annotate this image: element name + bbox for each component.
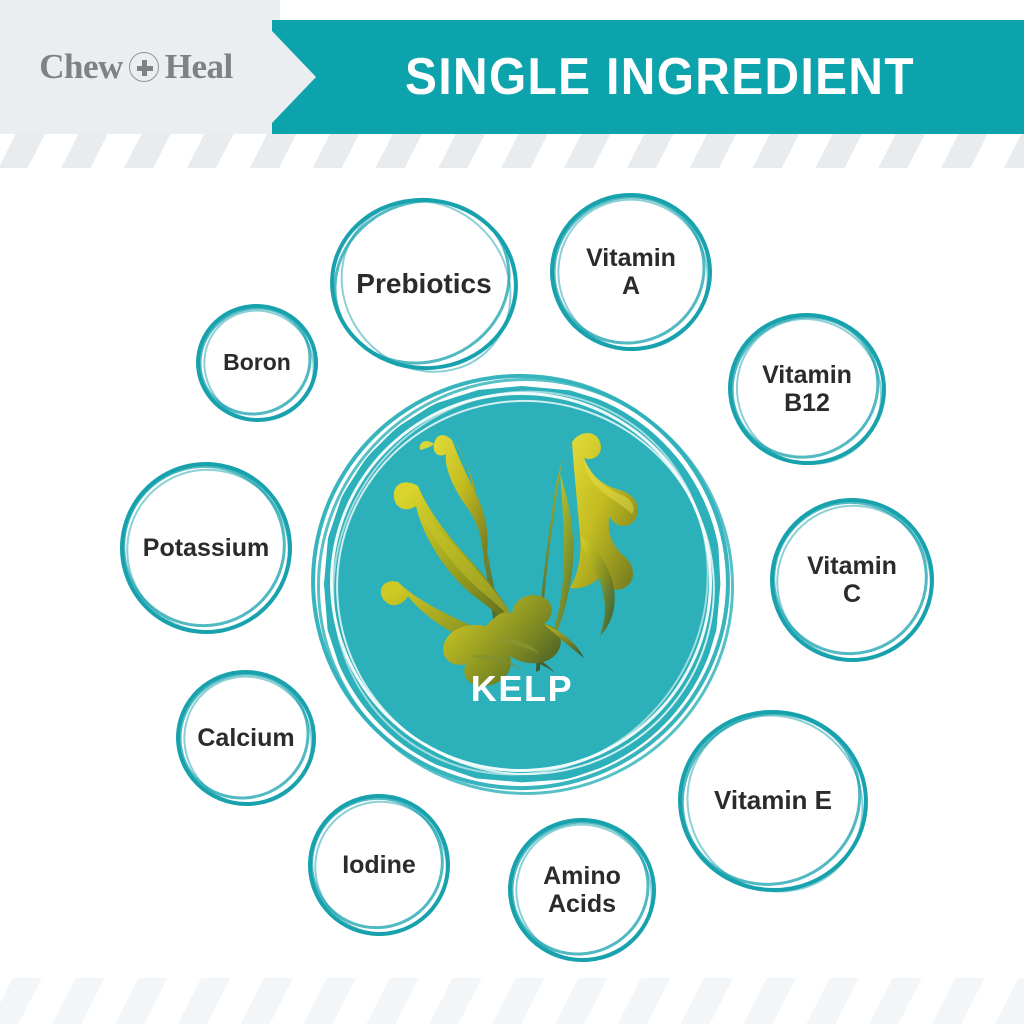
node-label-calcium: Calcium [189,724,302,752]
node-label-line1: Vitamin [586,244,676,272]
kelp-seaweed-illustration [374,414,674,704]
page-title: SINGLE INGREDIENT [356,20,963,134]
header-bar: Chew Heal SINGLE INGREDIENT [0,0,1024,134]
node-label-vitamin-b12: Vitamin B12 [754,361,860,417]
node-label-line2: B12 [784,389,830,417]
node-label-line2: C [843,580,861,608]
node-label-line1: Amino [543,862,621,890]
node-label-vitamin-c: Vitamin C [799,552,905,608]
node-label-line1: Vitamin [807,552,897,580]
center-node-label: KELP [322,668,722,710]
brand-name-heal: Heal [165,47,233,87]
node-label-iodine: Iodine [334,851,424,879]
brand-logo[interactable]: Chew Heal [0,0,272,134]
node-amino-acids[interactable]: Amino Acids [508,818,656,962]
node-vitamin-c[interactable]: Vitamin C [770,498,934,662]
node-label-vitamin-a: Vitamin A [578,244,684,300]
infographic-canvas: Chew Heal SINGLE INGREDIENT [0,0,1024,1024]
node-label-line2: Acids [548,890,616,918]
node-label-line2: A [622,272,640,300]
node-vitamin-a[interactable]: Vitamin A [550,193,712,351]
node-calcium[interactable]: Calcium [176,670,316,806]
node-prebiotics[interactable]: Prebiotics [330,198,518,370]
brand-name-chew: Chew [39,47,123,87]
node-iodine[interactable]: Iodine [308,794,450,936]
node-label-amino-acids: Amino Acids [535,862,629,918]
node-boron[interactable]: Boron [196,304,318,422]
plus-in-circle-icon [129,52,159,82]
node-label-potassium: Potassium [135,534,277,562]
top-stripe-mask [0,168,1024,188]
node-label-line1: Vitamin [762,361,852,389]
node-label-vitamin-e: Vitamin E [706,786,840,815]
center-node-kelp[interactable]: KELP [322,384,722,784]
node-potassium[interactable]: Potassium [120,462,292,634]
node-vitamin-e[interactable]: Vitamin E [678,710,868,892]
node-vitamin-b12[interactable]: Vitamin B12 [728,313,886,465]
node-label-prebiotics: Prebiotics [348,268,499,299]
node-label-boron: Boron [215,350,299,376]
